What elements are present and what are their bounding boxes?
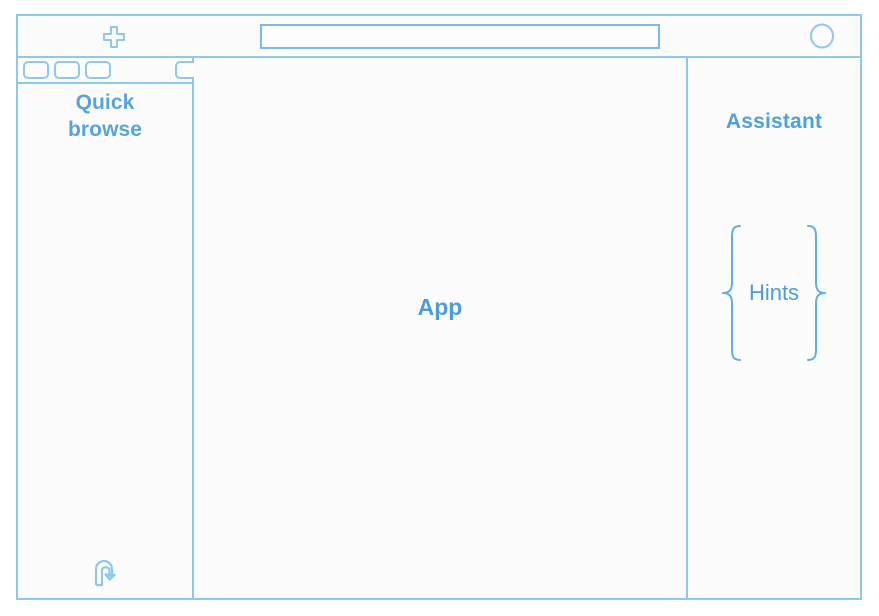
sidebar-footer (18, 552, 192, 592)
app-content-area: App (194, 58, 686, 598)
sidebar-title: Quick browse (18, 90, 192, 144)
circle-avatar-icon (809, 23, 835, 49)
profile-avatar-button[interactable] (809, 23, 835, 49)
right-curly-brace-icon (803, 223, 829, 363)
quick-browse-sidebar: Quick browse (18, 58, 194, 598)
assistant-panel: Assistant Hints (686, 58, 860, 598)
sidebar-tool-button-2[interactable] (54, 61, 80, 79)
assistant-title: Assistant (688, 110, 860, 134)
sidebar-tool-button-1[interactable] (23, 61, 49, 79)
hints-label: Hints (745, 280, 803, 306)
new-tab-button[interactable] (100, 23, 128, 51)
address-bar-input[interactable] (260, 24, 660, 49)
hints-block: Hints (688, 218, 860, 368)
left-curly-brace-icon (719, 223, 745, 363)
app-placeholder-label: App (418, 294, 463, 321)
browser-window: Quick browse App Assistant (16, 14, 862, 600)
sidebar-title-line-2: browse (18, 117, 192, 144)
browser-top-bar (18, 16, 860, 58)
u-turn-arrow-icon[interactable] (88, 556, 122, 588)
sidebar-tool-button-3[interactable] (85, 61, 111, 79)
window-body: Quick browse App Assistant (18, 58, 860, 598)
plus-icon (101, 24, 127, 50)
sidebar-toolbar (18, 58, 192, 84)
sidebar-title-line-1: Quick (18, 90, 192, 117)
